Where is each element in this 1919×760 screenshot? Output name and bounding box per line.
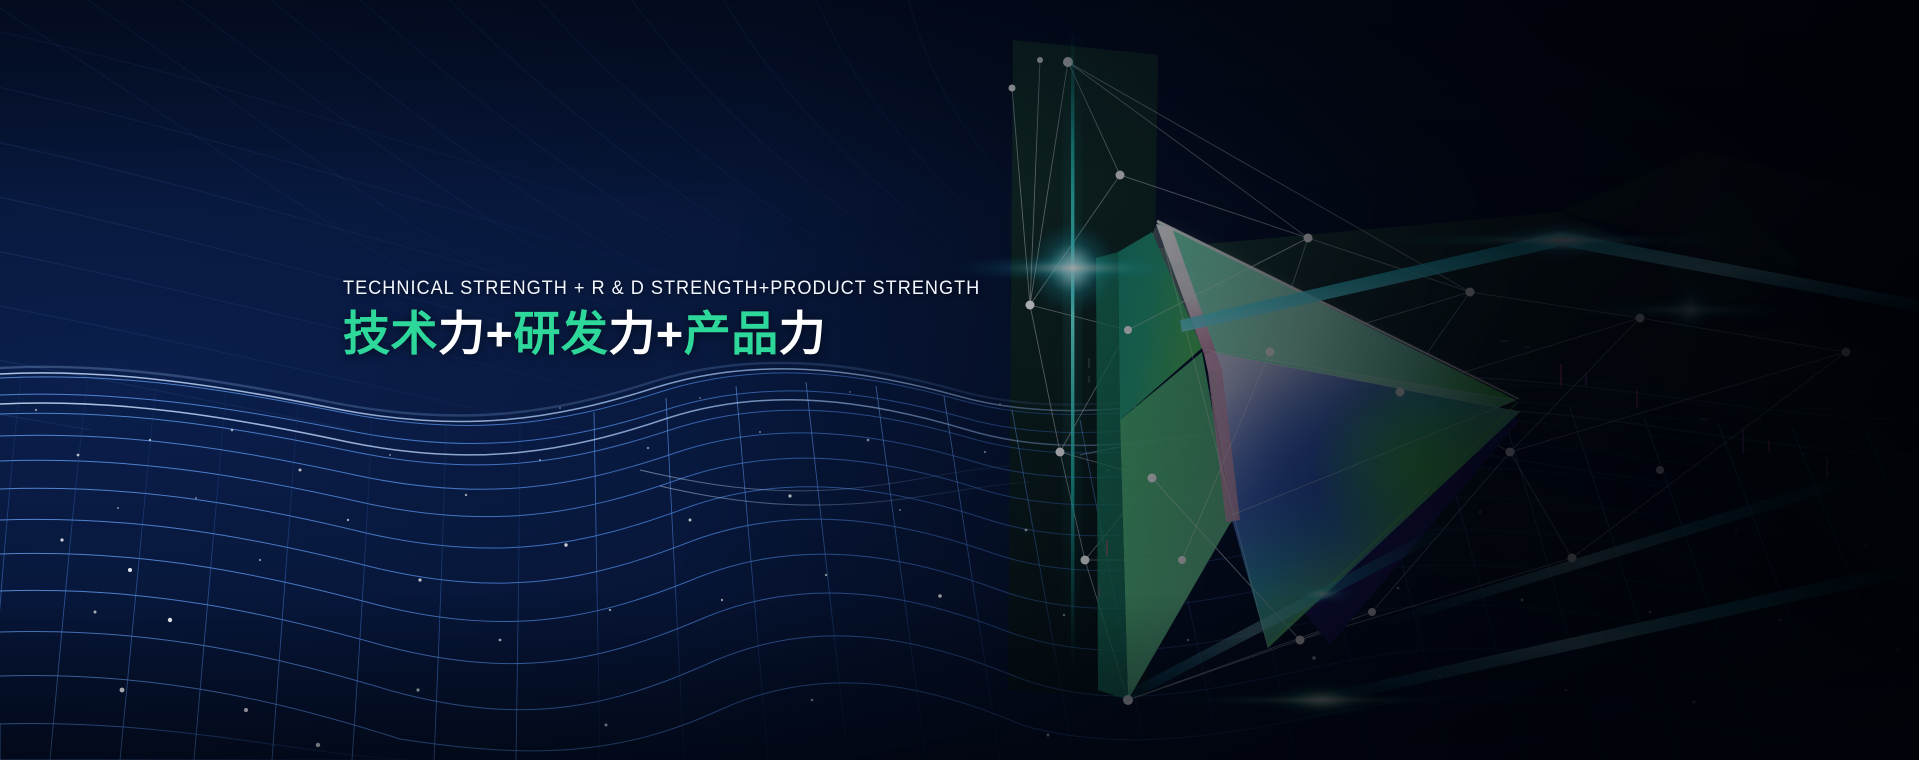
- headline-part-7: 产品: [684, 307, 779, 360]
- headline-part-4: 研发: [513, 307, 608, 360]
- hero-eyebrow-english: TECHNICAL STRENGTH + R & D STRENGTH+PROD…: [343, 277, 994, 299]
- bottom-vignette: [0, 0, 1919, 760]
- headline-part-6: +: [656, 307, 684, 360]
- headline-part-1: 技术: [343, 307, 438, 360]
- wireframe-terrain-mesh: [0, 0, 1919, 760]
- hero-headline-chinese: 技术力+研发力+产品力: [343, 308, 1043, 361]
- hero-banner: TECHNICAL STRENGTH + R & D STRENGTH+PROD…: [0, 0, 1919, 760]
- headline-part-2: 力: [438, 307, 485, 360]
- data-tick-marks: [0, 0, 1919, 760]
- light-beams: [0, 0, 1919, 760]
- background-grid: [0, 0, 1919, 760]
- dark-geometric-panels: [0, 0, 1919, 760]
- hero-graphic: [0, 0, 1919, 760]
- headline-part-3: +: [485, 307, 513, 360]
- polygon-network-nodes: [1009, 57, 1851, 705]
- particle-dots: [0, 0, 1919, 760]
- hero-copy: TECHNICAL STRENGTH + R & D STRENGTH+PROD…: [343, 277, 1043, 361]
- right-vignette: [0, 0, 1919, 760]
- headline-part-5: 力: [608, 307, 655, 360]
- polygon-network-lines: [1012, 60, 1846, 700]
- top-vignette: [0, 0, 1919, 760]
- headline-part-8: 力: [779, 307, 826, 360]
